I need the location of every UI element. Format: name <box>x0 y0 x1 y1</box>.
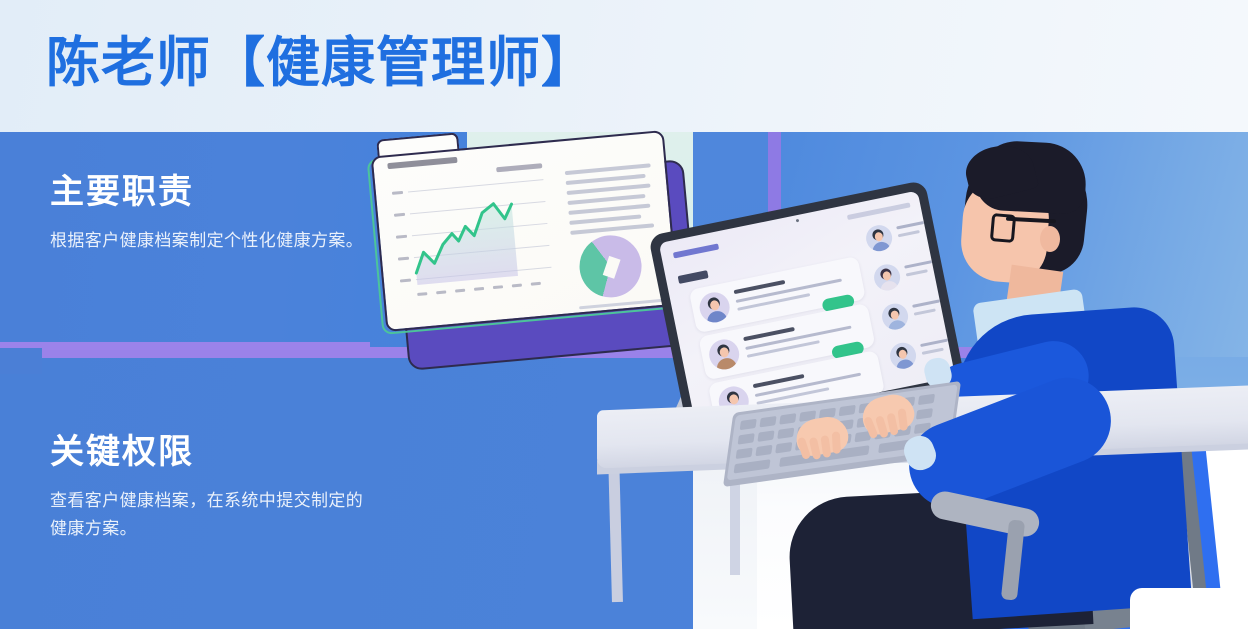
list-item-meta <box>747 340 820 358</box>
avatar <box>880 301 911 332</box>
list-item-meta <box>737 293 810 311</box>
white-card-corner <box>1130 588 1248 629</box>
report-text-lines <box>565 163 659 241</box>
person-ear <box>1040 226 1060 252</box>
avatar <box>872 262 903 293</box>
app-section-heading <box>678 270 709 284</box>
report-card <box>371 130 680 332</box>
poster-canvas: 陈老师【健康管理师】 <box>0 0 1248 629</box>
panel-heading: 主要职责 <box>50 172 370 213</box>
avatar <box>707 337 742 372</box>
avatar <box>697 290 732 325</box>
decorative-square <box>0 348 42 374</box>
report-footer-line <box>579 299 665 310</box>
panel-body: 根据客户健康档案制定个性化健康方案。 <box>50 227 370 256</box>
report-line-chart <box>392 175 554 300</box>
page-title: 陈老师【健康管理师】 <box>46 31 596 96</box>
avatar <box>864 223 895 254</box>
app-logo-placeholder <box>673 243 719 258</box>
report-subtitle-placeholder <box>496 163 542 172</box>
panel-body: 查看客户健康档案，在系统中提交制定的健康方案。 <box>50 487 370 544</box>
panel-heading: 关键权限 <box>50 432 370 473</box>
avatar <box>888 340 919 371</box>
panel-key-permissions: 关键权限 查看客户健康档案，在系统中提交制定的健康方案。 <box>50 432 370 544</box>
line-chart-svg <box>392 175 554 300</box>
background-purple-horizontal-band-left <box>0 342 370 350</box>
panel-main-responsibilities: 主要职责 根据客户健康档案制定个性化健康方案。 <box>50 172 370 255</box>
report-title-placeholder <box>387 157 457 169</box>
app-toolbar-icons <box>847 202 911 220</box>
tablet-camera <box>796 219 800 223</box>
